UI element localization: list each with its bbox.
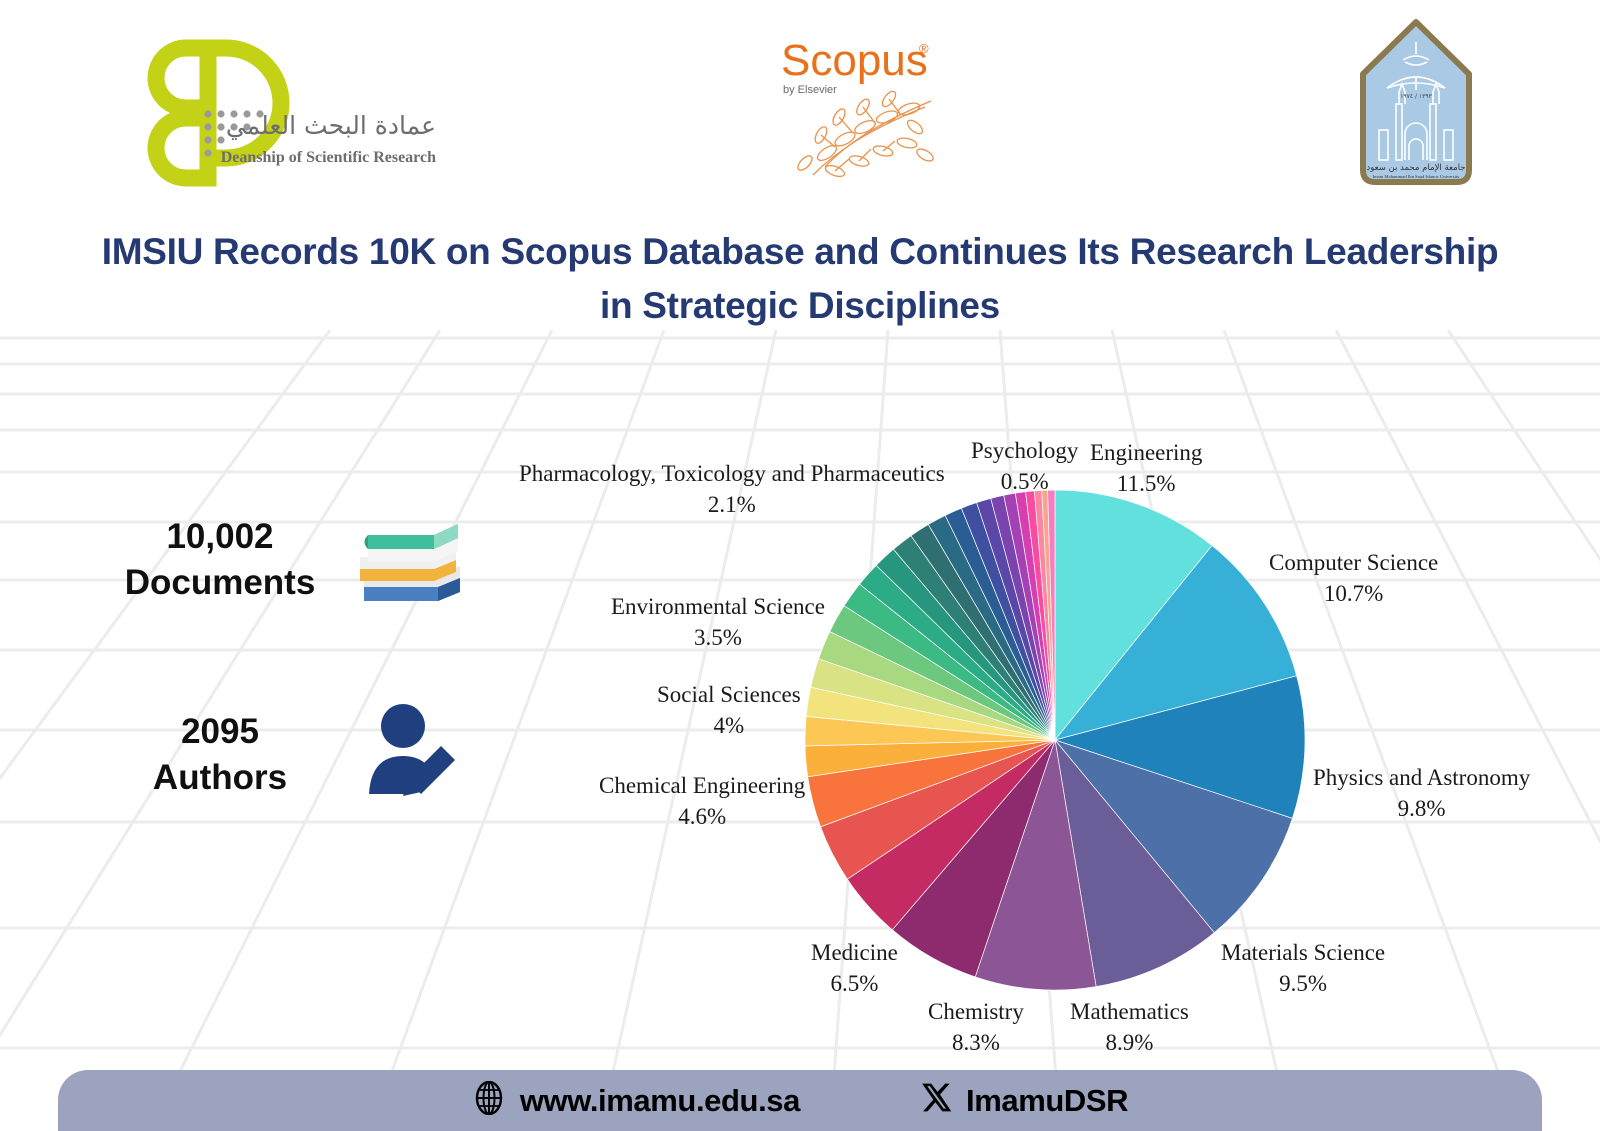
pie-label-chemistry: Chemistry 8.3%: [928, 996, 1024, 1058]
pie-label-pharmacology: Pharmacology, Toxicology and Pharmaceuti…: [519, 458, 945, 520]
dsr-logo-arabic: عمادة البحث العلمي: [226, 111, 436, 140]
svg-text:®: ®: [919, 41, 929, 56]
pie-label-physics-and-astronomy: Physics and Astronomy 9.8%: [1313, 762, 1530, 824]
footer-website-text: www.imamu.edu.sa: [520, 1083, 800, 1119]
globe-icon: [472, 1081, 506, 1120]
svg-text:١٣٩٣ / ١٩٧٤: ١٣٩٣ / ١٩٧٤: [1400, 93, 1432, 100]
footer-social-text: ImamuDSR: [966, 1083, 1128, 1119]
stat-authors-label: Authors: [100, 755, 340, 801]
footer-bar: www.imamu.edu.sa ImamuDSR: [58, 1070, 1542, 1131]
dsr-logo-english: Deanship of Scientific Research: [221, 149, 436, 166]
pie-label-environmental-science: Environmental Science 3.5%: [611, 591, 825, 653]
stat-documents-label: Documents: [100, 560, 340, 606]
scopus-byline: by Elsevier: [783, 84, 837, 96]
books-stack-icon: [340, 505, 490, 615]
pie-label-materials-science: Materials Science 9.5%: [1221, 937, 1385, 999]
pie-label-chemical-engineering: Chemical Engineering 4.6%: [599, 770, 805, 832]
author-pencil-icon: [340, 700, 490, 810]
pie-label-mathematics: Mathematics 8.9%: [1070, 996, 1189, 1058]
header-logos: عمادة البحث العلمي Deanship of Scientifi…: [0, 0, 1600, 205]
dsr-logo: عمادة البحث العلمي Deanship of Scientifi…: [100, 22, 440, 187]
page-title: IMSIU Records 10K on Scopus Database and…: [60, 225, 1540, 333]
stat-documents: 10,002 Documents: [100, 505, 500, 615]
footer-website[interactable]: www.imamu.edu.sa: [472, 1081, 800, 1120]
stat-authors-value: 2095: [100, 709, 340, 755]
pie-label-engineering: Engineering 11.5%: [1090, 437, 1202, 499]
page-title-line1: IMSIU Records 10K on Scopus Database and…: [60, 225, 1540, 279]
pie-label-medicine: Medicine 6.5%: [811, 937, 898, 999]
scopus-wordmark: Scopus: [781, 36, 928, 85]
pie-label-social-sciences: Social Sciences 4%: [657, 679, 801, 741]
x-twitter-icon: [920, 1082, 952, 1119]
scopus-branch-pattern: [796, 89, 936, 179]
scopus-logo: Scopus ® by Elsevier: [775, 35, 940, 180]
pie-label-computer-science: Computer Science 10.7%: [1269, 547, 1438, 609]
footer-social[interactable]: ImamuDSR: [920, 1082, 1128, 1119]
stat-authors: 2095 Authors: [100, 690, 500, 820]
pie-label-psychology: Psychology 0.5%: [971, 435, 1078, 497]
imsiu-logo-english: Imam Mohammad Ibn Saud Islamic Universit…: [1373, 174, 1461, 179]
discipline-pie-chart: [800, 485, 1310, 995]
stat-documents-value: 10,002: [100, 514, 340, 560]
imsiu-logo-arabic: جامعة الإمام محمد بن سعود: [1366, 163, 1465, 173]
imsiu-logo: ١٣٩٣ / ١٩٧٤ جامعة الإمام محمد بن سعود Im…: [1357, 18, 1475, 188]
stat-authors-text: 2095 Authors: [100, 709, 340, 801]
stat-documents-text: 10,002 Documents: [100, 514, 340, 606]
page-title-line2: in Strategic Disciplines: [60, 279, 1540, 333]
